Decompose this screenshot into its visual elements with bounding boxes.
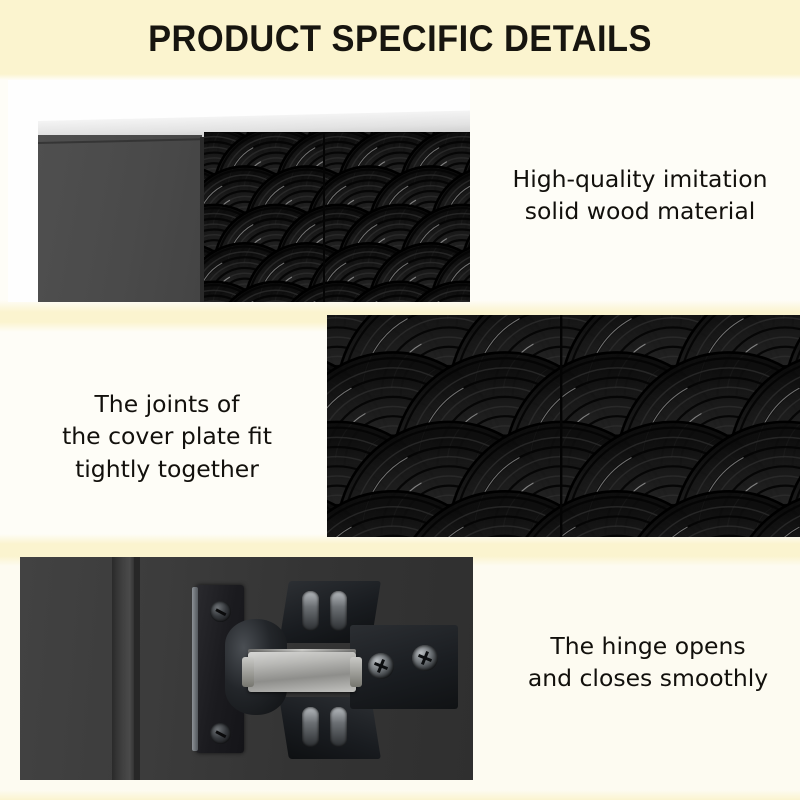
seigaiha-arc-texture-svg: [204, 132, 470, 302]
hinge-screw-bottom: [210, 723, 231, 744]
caption-line: tightly together: [22, 453, 312, 485]
hinge-slot: [330, 707, 347, 747]
cabinet-textured-front: [204, 132, 470, 302]
texture-closeup-photo: [327, 315, 800, 537]
cabinet-side-panel: [38, 135, 202, 302]
hinge-mounting-plate: [350, 625, 458, 709]
hinge-screw-top: [210, 601, 231, 622]
hinge-plate-highlight: [192, 587, 198, 751]
hinge-arm-pin: [350, 657, 362, 687]
page-title: PRODUCT SPECIFIC DETAILS: [28, 18, 772, 60]
panel-joint-seam: [323, 132, 325, 302]
door-edge-gap: [112, 557, 134, 780]
caption-line: High-quality imitation: [490, 163, 790, 195]
phillips-screw: [368, 653, 394, 679]
hinge-slot: [302, 707, 319, 747]
caption-material: High-quality imitation solid wood materi…: [490, 163, 790, 228]
cover-plate-joint-seam: [560, 315, 562, 537]
hinge-slot: [302, 591, 319, 631]
caption-line: solid wood material: [490, 195, 790, 227]
caption-line: The joints of: [22, 388, 312, 420]
product-details-infographic: PRODUCT SPECIFIC DETAILS H: [0, 0, 800, 800]
phillips-screw: [412, 645, 438, 671]
caption-line: The hinge opens: [500, 630, 796, 662]
hinge-closeup-photo: [20, 557, 473, 780]
door-edge-shadow: [134, 557, 140, 780]
hinge-arm: [248, 652, 356, 692]
caption-line: the cover plate fit: [22, 420, 312, 452]
caption-line: and closes smoothly: [500, 662, 796, 694]
cabinet-corner-photo: [8, 80, 470, 302]
caption-joints: The joints of the cover plate fit tightl…: [22, 388, 312, 485]
hinge-slot: [330, 591, 347, 631]
hinge-arm-pin: [242, 657, 254, 687]
seigaiha-macro-texture-svg: [327, 315, 800, 537]
caption-hinge: The hinge opens and closes smoothly: [500, 630, 796, 695]
